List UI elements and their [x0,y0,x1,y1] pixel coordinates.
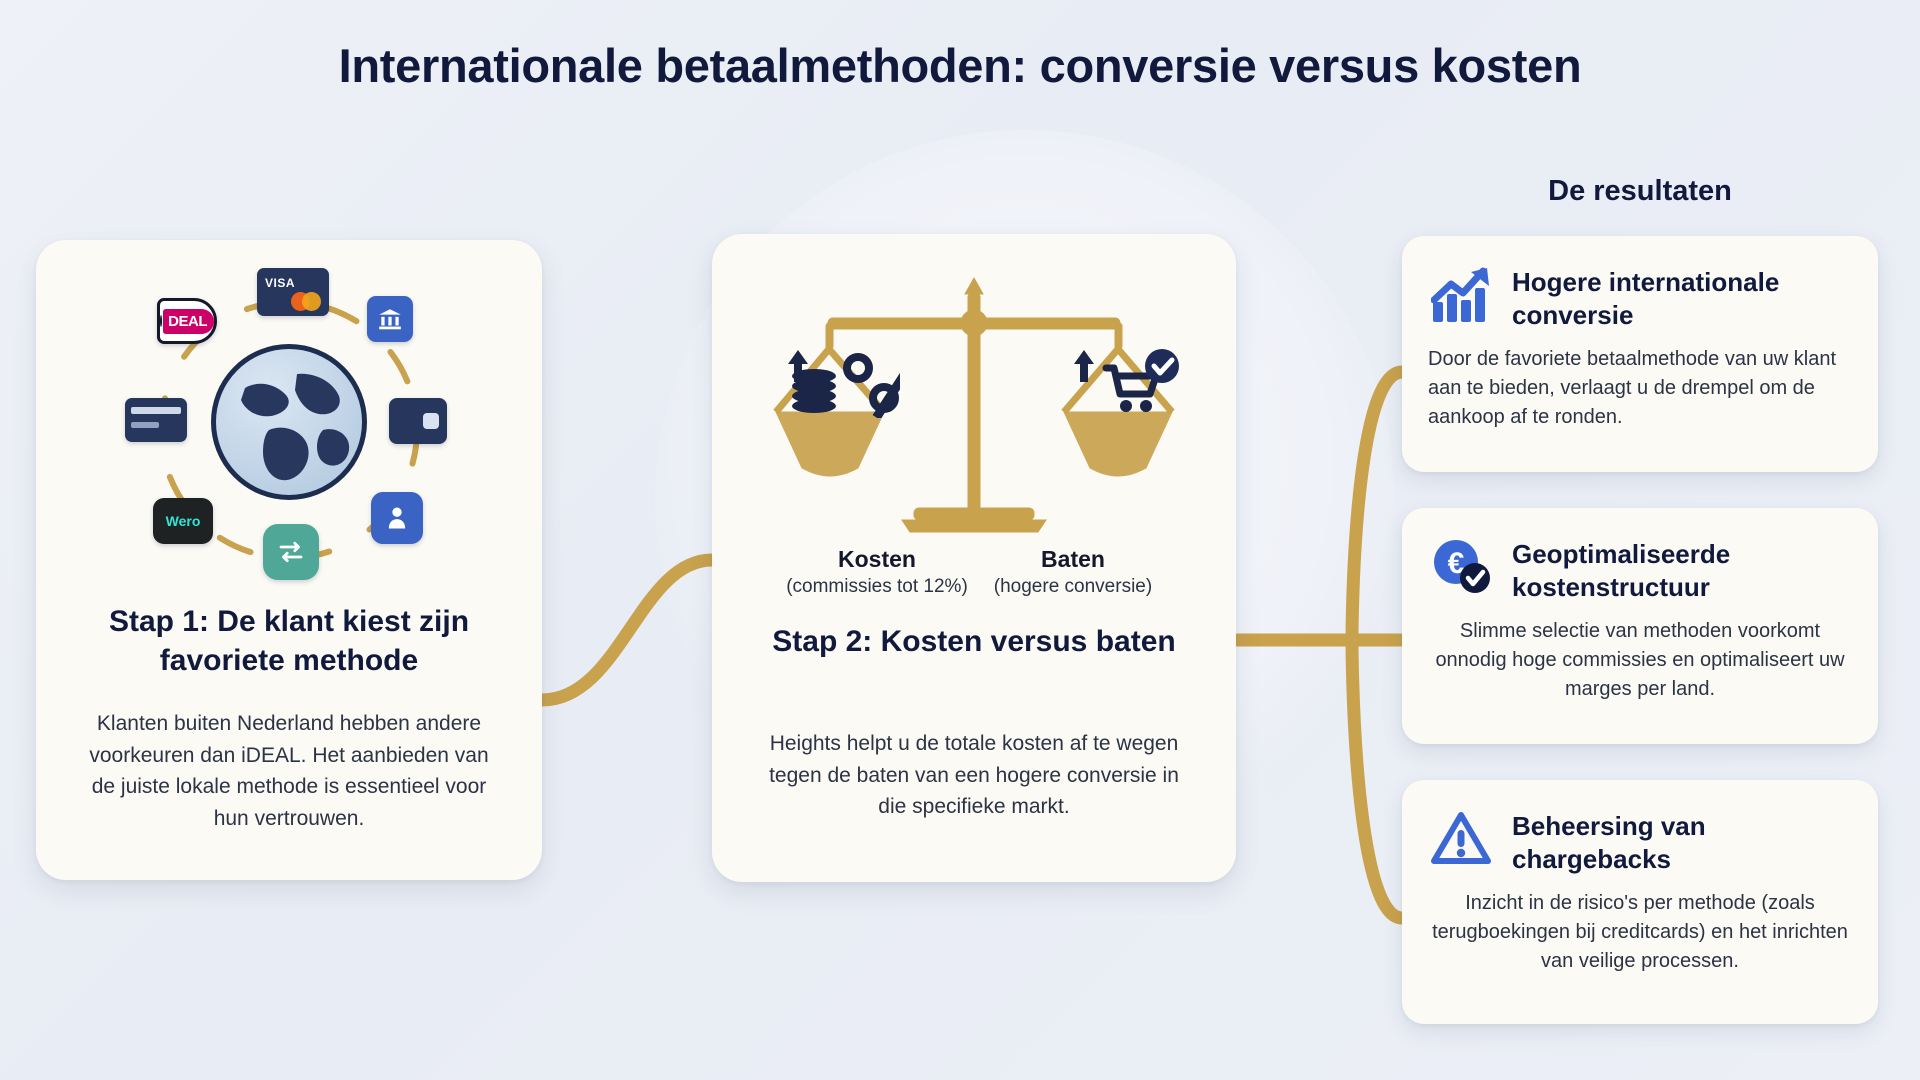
result-title-0: Hogere internationale conversie [1512,262,1852,331]
wallet-icon [389,398,447,444]
step-card-1[interactable]: DEAL VISA Wero [36,240,542,880]
step-2-heading: Stap 2: Kosten versus baten [738,622,1210,661]
warning-triangle-icon [1428,806,1494,872]
result-title-1: Geoptimaliseerde kostenstructuur [1512,534,1852,603]
balance-scale-illustration: Kosten (commissies tot 12%) Baten (hoger… [762,262,1186,612]
result-card-chargebacks[interactable]: Beheersing van chargebacks Inzicht in de… [1402,780,1878,1024]
coins-percent-up-icon [784,346,900,418]
result-card-kostenstructuur[interactable]: € Geoptimaliseerde kostenstructuur Slimm… [1402,508,1878,744]
euro-check-icon: € [1428,534,1494,600]
bank-transfer-icon [367,296,413,342]
growth-chart-icon [1428,262,1494,328]
globe-icon [211,344,367,500]
step-card-2[interactable]: Kosten (commissies tot 12%) Baten (hoger… [712,234,1236,882]
step-1-heading: Stap 1: De klant kiest zijn favoriete me… [62,602,516,680]
result-body-1: Slimme selectie van methoden voorkomt on… [1428,617,1852,704]
ideal-logo-icon: DEAL [157,298,217,344]
cart-check-up-icon [1072,346,1182,418]
result-body-0: Door de favoriete betaalmethode van uw k… [1428,345,1852,432]
step-1-body: Klanten buiten Nederland hebben andere v… [80,708,498,834]
baten-sublabel: (hogere conversie) [958,576,1188,598]
wero-logo-icon: Wero [153,498,213,544]
scale-label-baten: Baten (hogere conversie) [958,546,1188,598]
swap-transfer-icon [263,524,319,580]
credit-card-icon [125,398,187,442]
results-heading: De resultaten [1390,175,1890,208]
baten-label: Baten [958,546,1188,573]
page-title: Internationale betaalmethoden: conversie… [0,38,1920,93]
result-title-2: Beheersing van chargebacks [1512,806,1852,875]
step-2-body: Heights helpt u de totale kosten af te w… [756,728,1192,823]
payment-methods-ring: DEAL VISA Wero [139,280,439,580]
result-body-2: Inzicht in de risico's per methode (zoal… [1428,889,1852,976]
visa-mastercard-card-icon: VISA [257,268,329,316]
result-card-conversie[interactable]: Hogere internationale conversie Door de … [1402,236,1878,472]
bancontact-icon [371,492,423,544]
